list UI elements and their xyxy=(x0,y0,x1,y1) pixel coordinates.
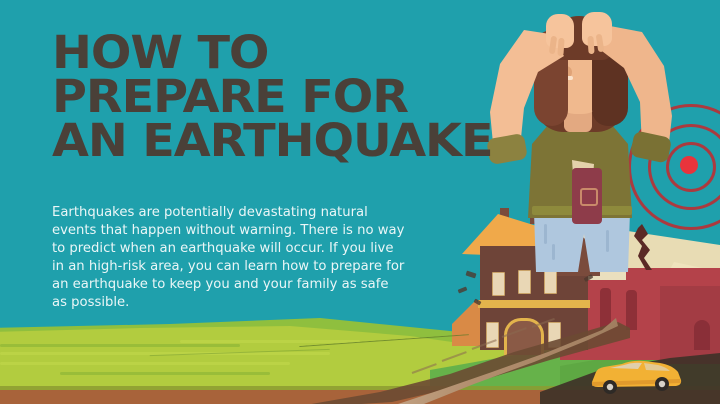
infographic-poster: HOW TO PREPARE FOR AN EARTHQUAKE Earthqu… xyxy=(0,0,720,404)
yellow-car-icon xyxy=(588,352,684,396)
facade-band xyxy=(478,300,590,308)
finger xyxy=(587,36,594,54)
arched-doorway xyxy=(694,320,710,350)
title-line-2: PREPARE FOR xyxy=(52,75,582,119)
bag-clasp xyxy=(580,188,598,206)
jean-fold xyxy=(552,244,555,260)
epicenter-dot xyxy=(680,156,698,174)
jean-fold xyxy=(544,224,547,244)
window xyxy=(518,270,531,294)
window xyxy=(492,272,505,296)
window xyxy=(544,270,557,294)
page-title: HOW TO PREPARE FOR AN EARTHQUAKE xyxy=(52,31,582,163)
window xyxy=(600,288,611,330)
intro-paragraph: Earthquakes are potentially devastating … xyxy=(52,204,407,313)
grass-streak xyxy=(0,344,240,347)
title-line-1: HOW TO xyxy=(52,31,582,75)
title-line-3: AN EARTHQUAKE xyxy=(52,119,582,163)
grass-streak xyxy=(180,340,360,343)
jean-fold xyxy=(606,230,609,252)
window xyxy=(626,290,637,330)
